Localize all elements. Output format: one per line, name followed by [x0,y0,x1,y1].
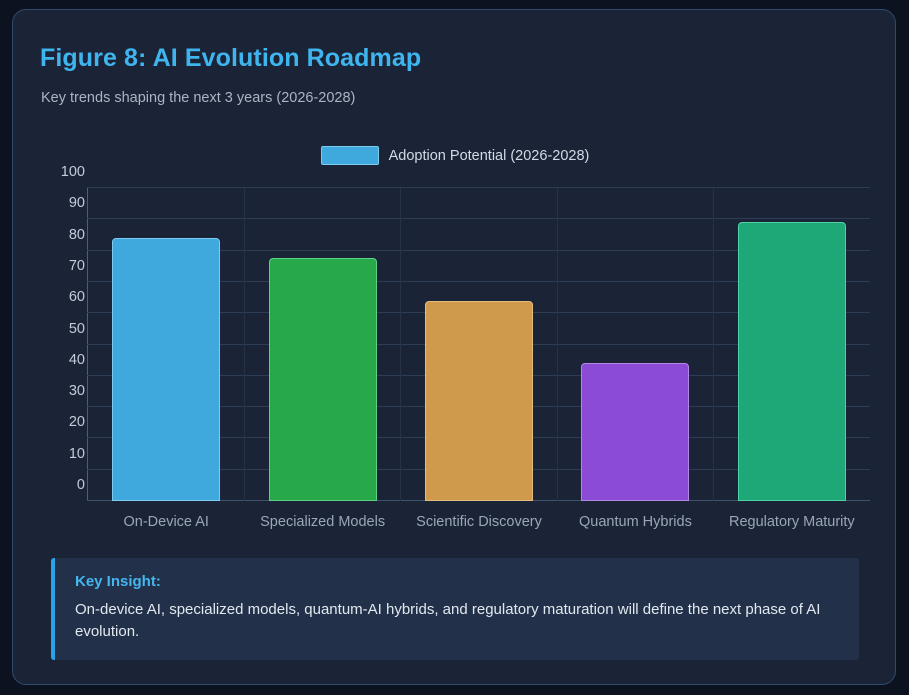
y-axis-tick-label: 0 [25,477,85,493]
bar-slot [557,188,713,501]
legend-label: Adoption Potential (2026-2028) [389,148,590,164]
y-axis-tick-label: 20 [25,414,85,430]
chart-bar[interactable] [425,301,533,501]
bar-slot [401,188,557,501]
figure-subtitle: Key trends shaping the next 3 years (202… [41,90,355,106]
chart-bar[interactable] [581,363,689,501]
chart-bar[interactable] [269,258,377,501]
y-axis-tick-label: 70 [25,258,85,274]
bar-slot [714,188,870,501]
chart-bars [88,188,870,501]
bar-slot [88,188,244,501]
y-axis-tick-label: 90 [25,195,85,211]
key-insight-title: Key Insight: [75,573,839,590]
bar-slot [244,188,400,501]
y-axis-tick-label: 60 [25,289,85,305]
x-axis-label: Specialized Models [244,514,400,530]
y-axis-tick-label: 80 [25,227,85,243]
chart-bar[interactable] [112,238,220,501]
x-axis-label: Regulatory Maturity [714,514,870,530]
legend-swatch-icon [321,146,379,165]
x-axis-label: Scientific Discovery [401,514,557,530]
chart-bar[interactable] [738,222,846,501]
chart-plot-inner: 0102030405060708090100 [87,188,870,501]
y-axis-tick-label: 50 [25,321,85,337]
figure-card: Figure 8: AI Evolution Roadmap Key trend… [12,9,896,685]
y-axis-tick-label: 100 [25,164,85,180]
y-axis-tick-label: 10 [25,446,85,462]
figure-title: Figure 8: AI Evolution Roadmap [40,44,421,73]
x-axis-labels: On-Device AISpecialized ModelsScientific… [88,514,870,530]
x-axis-label: Quantum Hybrids [557,514,713,530]
key-insight-text: On-device AI, specialized models, quantu… [75,599,839,643]
x-axis-label: On-Device AI [88,514,244,530]
chart-plot-area: 0102030405060708090100 [87,176,870,502]
key-insight-panel: Key Insight: On-device AI, specialized m… [51,558,859,660]
y-axis-tick-label: 40 [25,352,85,368]
chart-legend: Adoption Potential (2026-2028) [13,146,896,165]
y-axis-tick-label: 30 [25,383,85,399]
